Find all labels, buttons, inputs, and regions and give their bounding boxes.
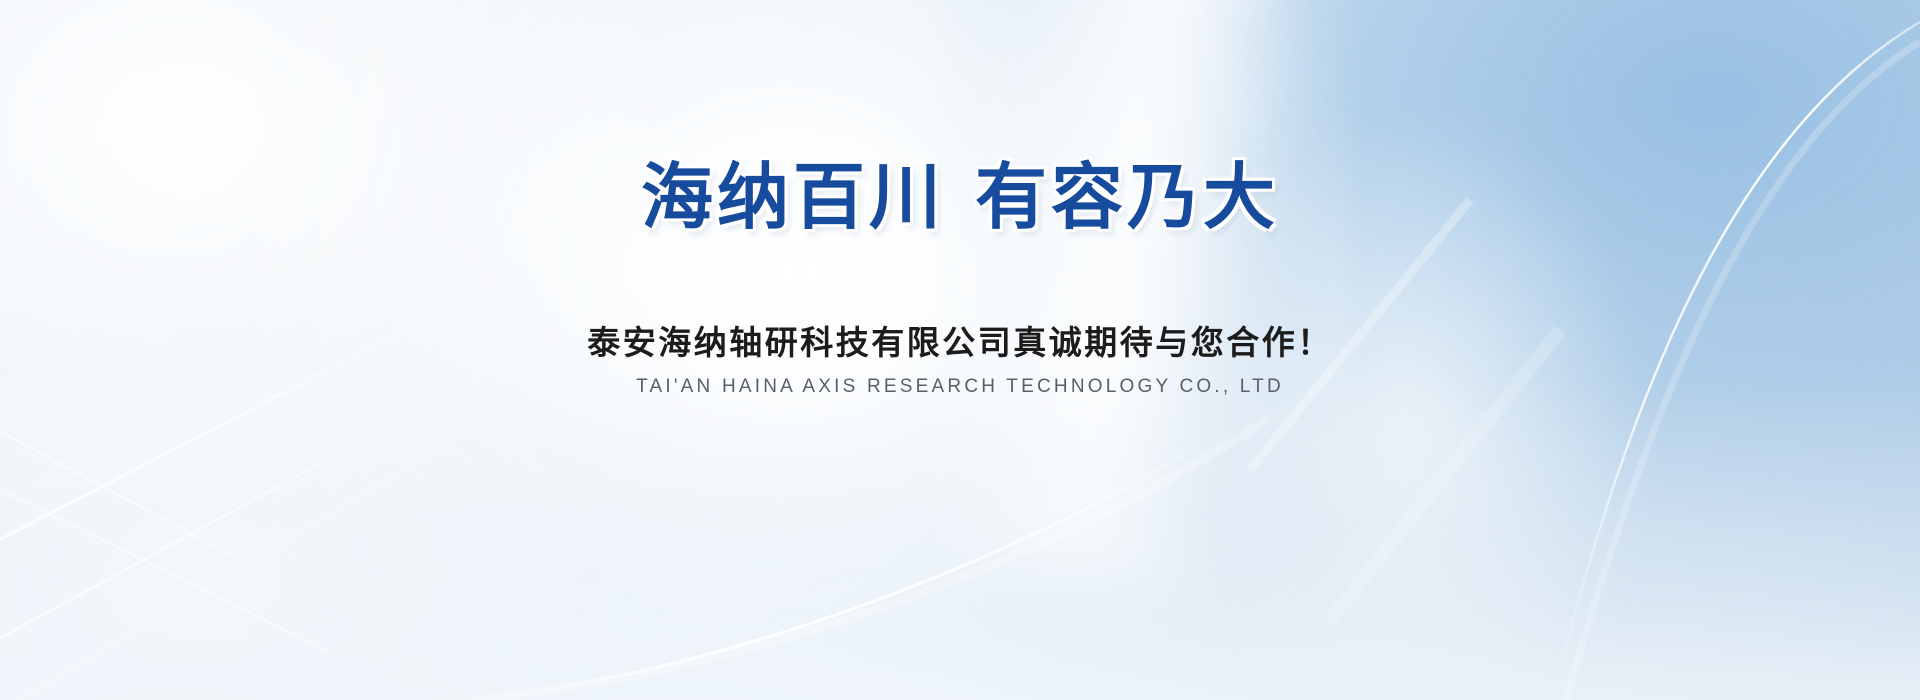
headline-part-2: 有容乃大 (975, 158, 1279, 238)
hero-banner: 海纳百川有容乃大 泰安海纳轴研科技有限公司真诚期待与您合作！ TAI'AN HA… (0, 0, 1920, 700)
subtitle-chinese: 泰安海纳轴研科技有限公司真诚期待与您合作！ (587, 316, 1333, 364)
headline-part-1: 海纳百川 (641, 158, 945, 238)
banner-content: 海纳百川有容乃大 泰安海纳轴研科技有限公司真诚期待与您合作！ TAI'AN HA… (0, 0, 1920, 700)
headline: 海纳百川有容乃大 (641, 160, 1279, 238)
subtitle-english: TAI'AN HAINA AXIS RESEARCH TECHNOLOGY CO… (636, 376, 1284, 398)
